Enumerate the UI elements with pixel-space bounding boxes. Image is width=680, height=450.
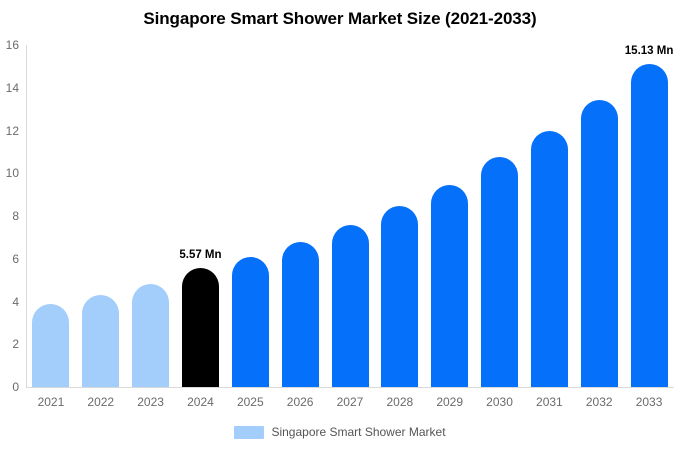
x-axis-tick-2029: 2029 xyxy=(425,395,475,409)
bar-2028[interactable] xyxy=(381,206,418,387)
x-axis-tick-2025: 2025 xyxy=(225,395,275,409)
y-axis-tick-2: 2 xyxy=(12,337,19,351)
y-axis-tick-4: 4 xyxy=(12,295,19,309)
bar-2030[interactable] xyxy=(481,157,518,387)
x-axis-tick-2024: 2024 xyxy=(176,395,226,409)
bar-slot-2022 xyxy=(82,45,119,387)
x-axis-tick-2028: 2028 xyxy=(375,395,425,409)
bar-slot-2032 xyxy=(581,45,618,387)
bar-chart: Singapore Smart Shower Market Size (2021… xyxy=(0,0,680,450)
x-axis-line xyxy=(26,387,674,388)
plot-area: 5.57 Mn15.13 Mn 0246810121416 xyxy=(26,45,674,387)
y-axis-tick-12: 12 xyxy=(6,124,19,138)
bar-2023[interactable] xyxy=(132,284,169,387)
bar-slot-2026 xyxy=(282,45,319,387)
bar-2033[interactable] xyxy=(631,64,668,387)
bar-value-label-2024: 5.57 Mn xyxy=(179,249,221,261)
x-axis-tick-2030: 2030 xyxy=(475,395,525,409)
bar-slot-2021 xyxy=(32,45,69,387)
x-axis-tick-2023: 2023 xyxy=(126,395,176,409)
bar-slot-2029 xyxy=(431,45,468,387)
legend-label: Singapore Smart Shower Market xyxy=(271,425,445,439)
bar-2022[interactable] xyxy=(82,295,119,387)
bar-2026[interactable] xyxy=(282,242,319,387)
bar-2031[interactable] xyxy=(531,131,568,388)
chart-title: Singapore Smart Shower Market Size (2021… xyxy=(0,9,680,29)
bar-slot-2030 xyxy=(481,45,518,387)
y-axis-tick-16: 16 xyxy=(6,38,19,52)
bar-2021[interactable] xyxy=(32,304,69,387)
bar-value-label-2033: 15.13 Mn xyxy=(625,45,674,57)
bar-2024[interactable] xyxy=(182,268,219,387)
bar-slot-2023 xyxy=(132,45,169,387)
bar-2027[interactable] xyxy=(332,225,369,387)
bar-2025[interactable] xyxy=(232,257,269,387)
bars-layer: 5.57 Mn15.13 Mn xyxy=(26,45,674,387)
y-axis-tick-10: 10 xyxy=(6,166,19,180)
chart-legend: Singapore Smart Shower Market xyxy=(0,425,680,439)
x-axis-tick-2033: 2033 xyxy=(624,395,674,409)
y-axis-tick-14: 14 xyxy=(6,81,19,95)
y-axis-tick-8: 8 xyxy=(12,209,19,223)
bar-2032[interactable] xyxy=(581,100,618,387)
legend-swatch-icon xyxy=(234,426,264,439)
x-axis-tick-2027: 2027 xyxy=(325,395,375,409)
bar-slot-2028 xyxy=(381,45,418,387)
bar-slot-2027 xyxy=(332,45,369,387)
bar-slot-2033: 15.13 Mn xyxy=(631,45,668,387)
x-axis-tick-2021: 2021 xyxy=(26,395,76,409)
bar-slot-2031 xyxy=(531,45,568,387)
bar-slot-2024: 5.57 Mn xyxy=(182,45,219,387)
x-axis-tick-2026: 2026 xyxy=(275,395,325,409)
bar-slot-2025 xyxy=(232,45,269,387)
y-axis-tick-0: 0 xyxy=(12,380,19,394)
x-axis-tick-2032: 2032 xyxy=(574,395,624,409)
y-axis-tick-6: 6 xyxy=(12,252,19,266)
legend-item[interactable]: Singapore Smart Shower Market xyxy=(234,425,445,439)
x-axis-tick-2031: 2031 xyxy=(524,395,574,409)
x-axis-tick-2022: 2022 xyxy=(76,395,126,409)
bar-2029[interactable] xyxy=(431,185,468,387)
